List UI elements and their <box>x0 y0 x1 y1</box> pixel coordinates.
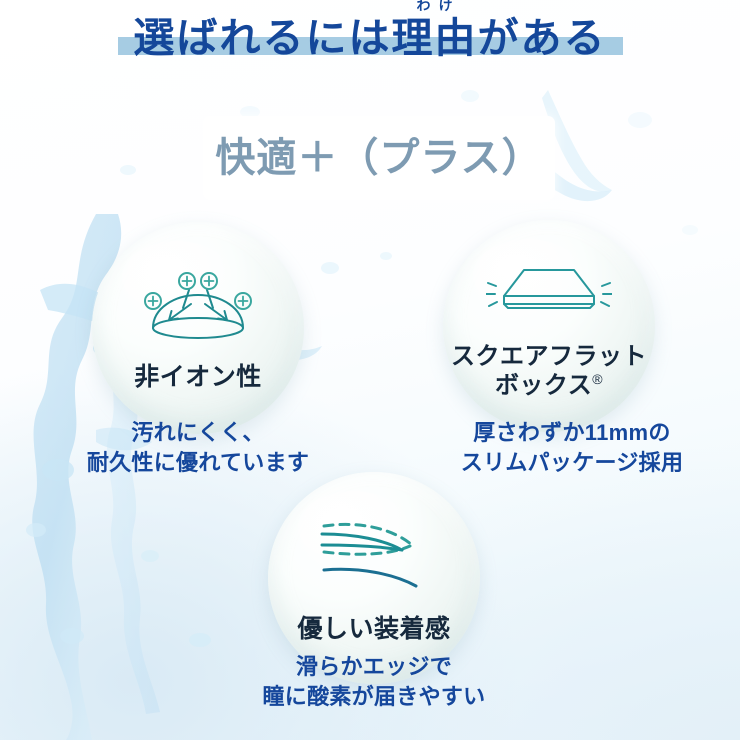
poster-root: 選ばれるにはわけ理由がある 快適＋（プラス） <box>0 0 740 740</box>
feature-bubble-nonionic: 非イオン性 <box>92 222 304 434</box>
feature-caption-comfort: 滑らかエッジで 瞳に酸素が届きやすい <box>234 652 514 712</box>
headline-ruby-group: わけ理由 <box>392 18 478 59</box>
headline-furigana: わけ <box>392 0 478 12</box>
headline-ruby-base: 理由 <box>392 15 478 61</box>
feature-label-flatbox: スクエアフラット ボックス® <box>451 343 647 401</box>
registered-trademark-icon: ® <box>592 371 603 387</box>
feature-caption-flatbox: 厚さわずか11mmの スリムパッケージ採用 <box>432 418 712 478</box>
feature-label-comfort: 優しい装着感 <box>297 615 450 645</box>
headline-part-before: 選ばれるには <box>134 15 392 61</box>
feature-label-flatbox-line2: ボックス <box>495 372 592 399</box>
flat-box-package-icon <box>486 252 612 327</box>
subtitle-text: 快適＋（プラス） <box>215 138 542 178</box>
feature-label-flatbox-line1: スクエアフラット <box>451 343 647 370</box>
feature-label-nonionic: 非イオン性 <box>134 363 262 393</box>
headline-block: 選ばれるにはわけ理由がある <box>0 18 740 59</box>
lens-repelling-ions-icon <box>139 264 257 347</box>
headline-part-after: がある <box>478 15 607 61</box>
subtitle-card: 快適＋（プラス） <box>203 116 555 200</box>
smooth-lens-edge-icon <box>318 512 430 593</box>
page-title: 選ばれるにはわけ理由がある <box>134 15 607 61</box>
feature-bubble-flatbox: スクエアフラット ボックス® <box>443 220 655 432</box>
feature-caption-nonionic: 汚れにくく、 耐久性に優れています <box>58 418 338 478</box>
